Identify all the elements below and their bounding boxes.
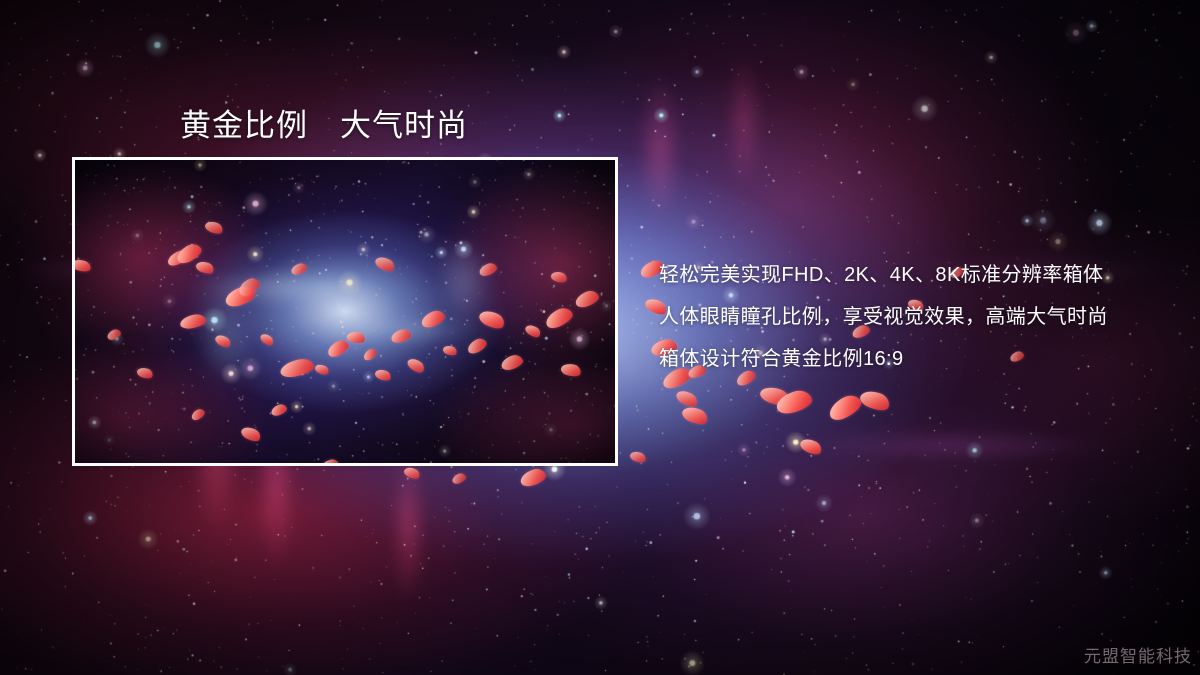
petal <box>518 466 547 488</box>
slide-canvas: 黄金比例 大气时尚 轻松完美实现FHD、2K、4K、8K标准分辨率箱体 人体眼睛… <box>0 0 1200 675</box>
petal <box>195 259 216 275</box>
petal <box>674 387 700 409</box>
petal <box>858 387 892 413</box>
body-copy: 轻松完美实现FHD、2K、4K、8K标准分辨率箱体 人体眼睛瞳孔比例，享受视觉效… <box>659 254 1179 380</box>
petal <box>798 436 823 457</box>
body-line-3: 箱体设计符合黄金比例16:9 <box>659 338 1179 380</box>
watermark: 元盟智能科技 <box>1084 642 1192 667</box>
petal <box>680 404 710 428</box>
petal <box>451 472 467 486</box>
petal <box>403 465 422 481</box>
body-line-2: 人体眼睛瞳孔比例，享受视觉效果，高端大气时尚 <box>659 296 1179 338</box>
body-line-1: 轻松完美实现FHD、2K、4K、8K标准分辨率箱体 <box>659 254 1179 296</box>
petal <box>826 391 865 424</box>
petal <box>629 450 647 465</box>
